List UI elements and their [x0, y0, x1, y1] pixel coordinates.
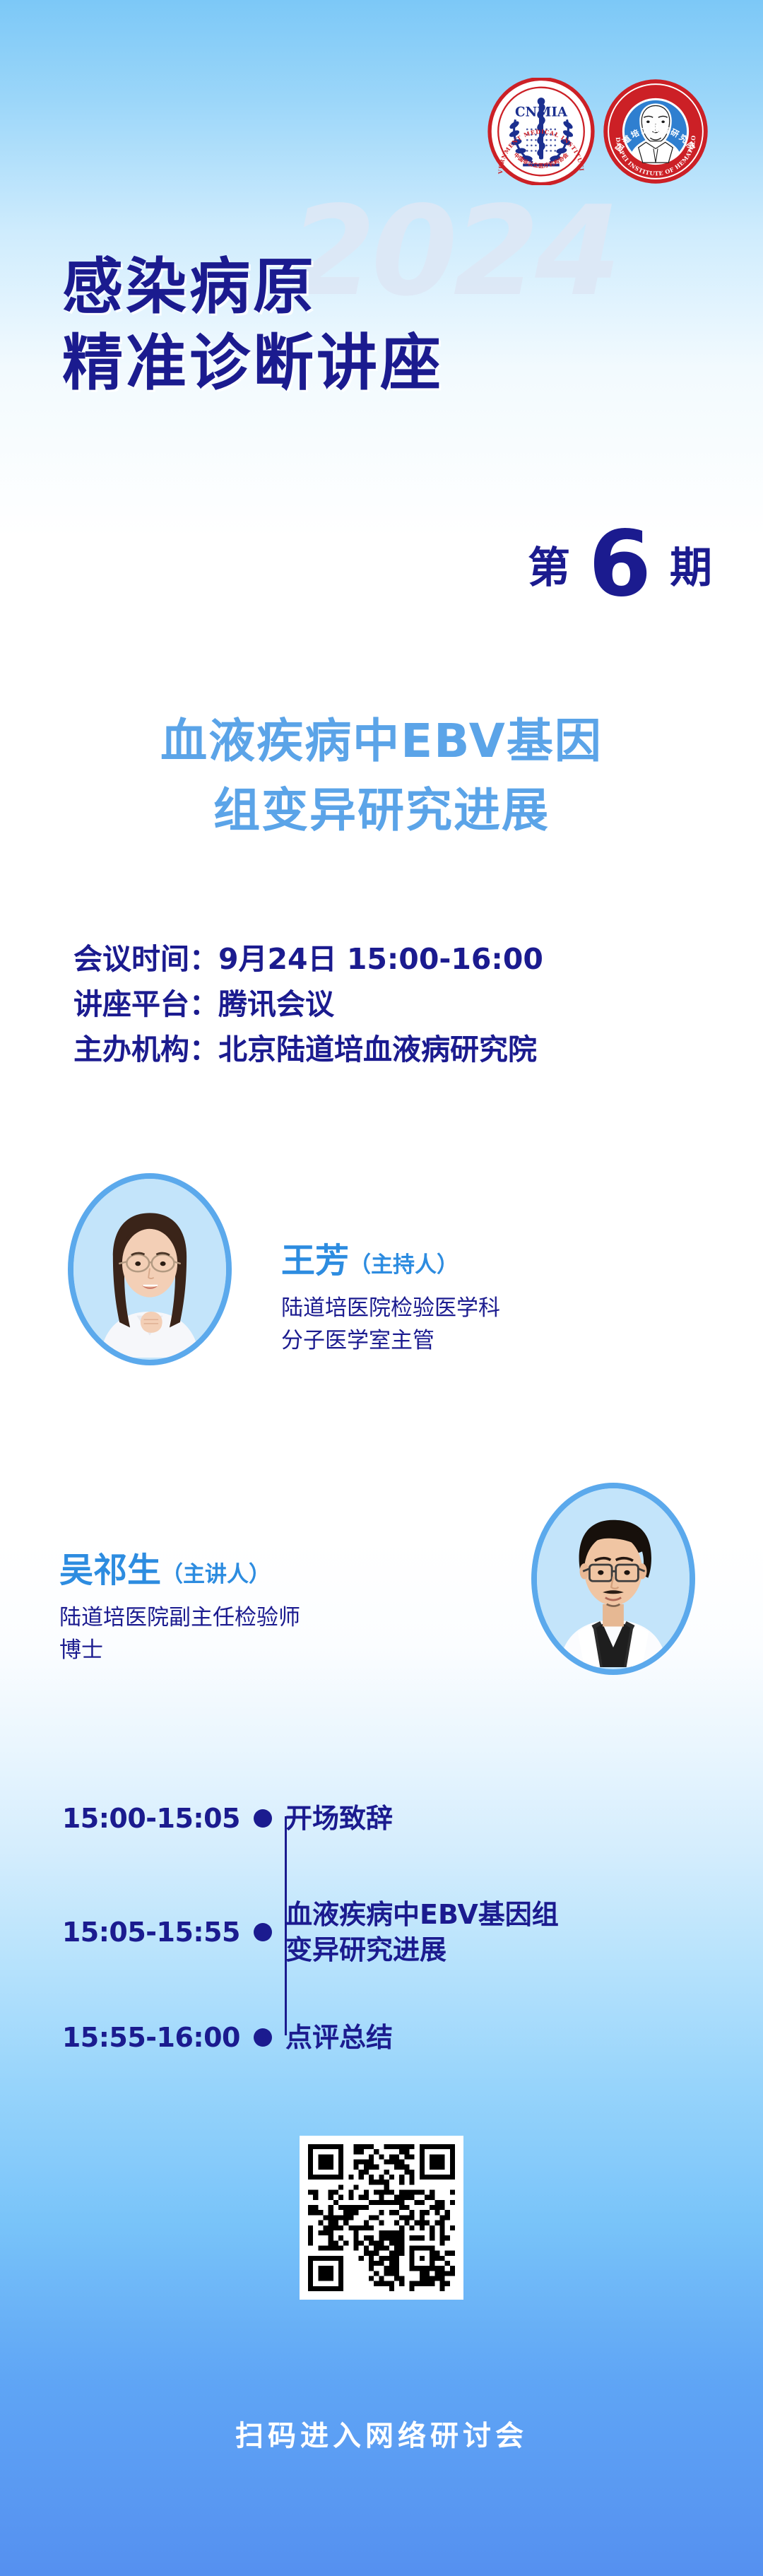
issue-value: 6 — [588, 523, 651, 606]
ludaopei-logo: 陆道培血液病研究院 LU DAOPEI INSTITUTE OF HEMATOL… — [602, 78, 709, 185]
agenda-time: 15:05-15:55 — [0, 1917, 240, 1948]
qr-caption: 扫码进入网络研讨会 — [0, 2413, 763, 2454]
agenda-time: 15:55-16:00 — [0, 2022, 240, 2053]
meeting-platform: 讲座平台：腾讯会议 — [73, 985, 543, 1023]
page-title-line2: 精准诊断讲座 — [62, 325, 444, 401]
avatar — [68, 1173, 232, 1365]
agenda-label: 开场致辞 — [285, 1801, 393, 1836]
speaker-affiliation-line1: 陆道培医院检验医学科 — [281, 1292, 500, 1324]
speaker-affiliation-line2: 博士 — [59, 1634, 300, 1666]
cnmia-logo: CHINESE NON-GOVERNMENT MEDICAL INSTITUTI… — [487, 78, 595, 185]
issue-prefix: 第 — [528, 534, 570, 595]
issue-suffix: 期 — [670, 534, 712, 595]
lecture-subtitle: 血液疾病中EBV基因 组变异研究进展 — [0, 707, 763, 845]
speaker-name-row: 吴祁生（主讲人） — [59, 1542, 300, 1592]
timeline-dot-icon — [254, 2028, 272, 2047]
lecture-subtitle-line2: 组变异研究进展 — [0, 776, 763, 845]
agenda-label: 血液疾病中EBV基因组 变异研究进展 — [285, 1897, 559, 1968]
speaker-affiliation-line2: 分子医学室主管 — [281, 1324, 500, 1357]
speaker-role: （主讲人） — [161, 1562, 271, 1587]
agenda-label: 点评总结 — [285, 2020, 393, 2055]
timeline-dot-icon — [254, 1809, 272, 1828]
speaker-name: 王芳 — [281, 1241, 349, 1281]
timeline-dot-wrap — [240, 2028, 285, 2047]
agenda-label-line2: 变异研究进展 — [285, 1932, 559, 1968]
cnmia-acronym: CNMIA — [515, 105, 568, 120]
speaker-info: 王芳（主持人） 陆道培医院检验医学科 分子医学室主管 — [281, 1233, 500, 1357]
issue-number: 第 6 期 — [528, 523, 712, 606]
lecture-subtitle-line1: 血液疾病中EBV基因 — [0, 707, 763, 776]
speaker-role: （主持人） — [349, 1252, 459, 1278]
qr-code[interactable] — [300, 2136, 463, 2300]
agenda-timeline: 15:00-15:05 开场致辞 15:05-15:55 血液疾病中EBV基因组… — [0, 1801, 763, 2078]
speaker-affiliation-line1: 陆道培医院副主任检验师 — [59, 1601, 300, 1634]
meeting-info: 会议时间：9月24日 15:00-16:00 讲座平台：腾讯会议 主办机构：北京… — [73, 940, 543, 1076]
timeline-dot-icon — [254, 1923, 272, 1941]
speaker-info: 吴祁生（主讲人） 陆道培医院副主任检验师 博士 — [59, 1542, 300, 1666]
speaker-affiliation: 陆道培医院检验医学科 分子医学室主管 — [281, 1292, 500, 1357]
agenda-label-line1: 血液疾病中EBV基因组 — [285, 1897, 559, 1932]
meeting-time: 会议时间：9月24日 15:00-16:00 — [73, 940, 543, 978]
speaker-name: 吴祁生 — [59, 1551, 161, 1590]
avatar — [531, 1483, 695, 1675]
agenda-label-line1: 点评总结 — [285, 2020, 393, 2055]
agenda-time: 15:00-15:05 — [0, 1803, 240, 1834]
agenda-item: 15:05-15:55 血液疾病中EBV基因组 变异研究进展 — [0, 1897, 763, 1968]
agenda-item: 15:55-16:00 点评总结 — [0, 2020, 763, 2055]
speaker-name-row: 王芳（主持人） — [281, 1233, 500, 1282]
header-logos: CHINESE NON-GOVERNMENT MEDICAL INSTITUTI… — [487, 78, 714, 191]
agenda-item: 15:00-15:05 开场致辞 — [0, 1801, 763, 1836]
timeline-dot-wrap — [240, 1923, 285, 1941]
timeline-dot-wrap — [240, 1809, 285, 1828]
speaker-affiliation: 陆道培医院副主任检验师 博士 — [59, 1601, 300, 1666]
page-title: 感染病原 精准诊断讲座 — [62, 249, 444, 401]
page-title-line1: 感染病原 — [62, 249, 444, 325]
meeting-organizer: 主办机构：北京陆道培血液病研究院 — [73, 1030, 543, 1069]
agenda-label-line1: 开场致辞 — [285, 1801, 393, 1836]
